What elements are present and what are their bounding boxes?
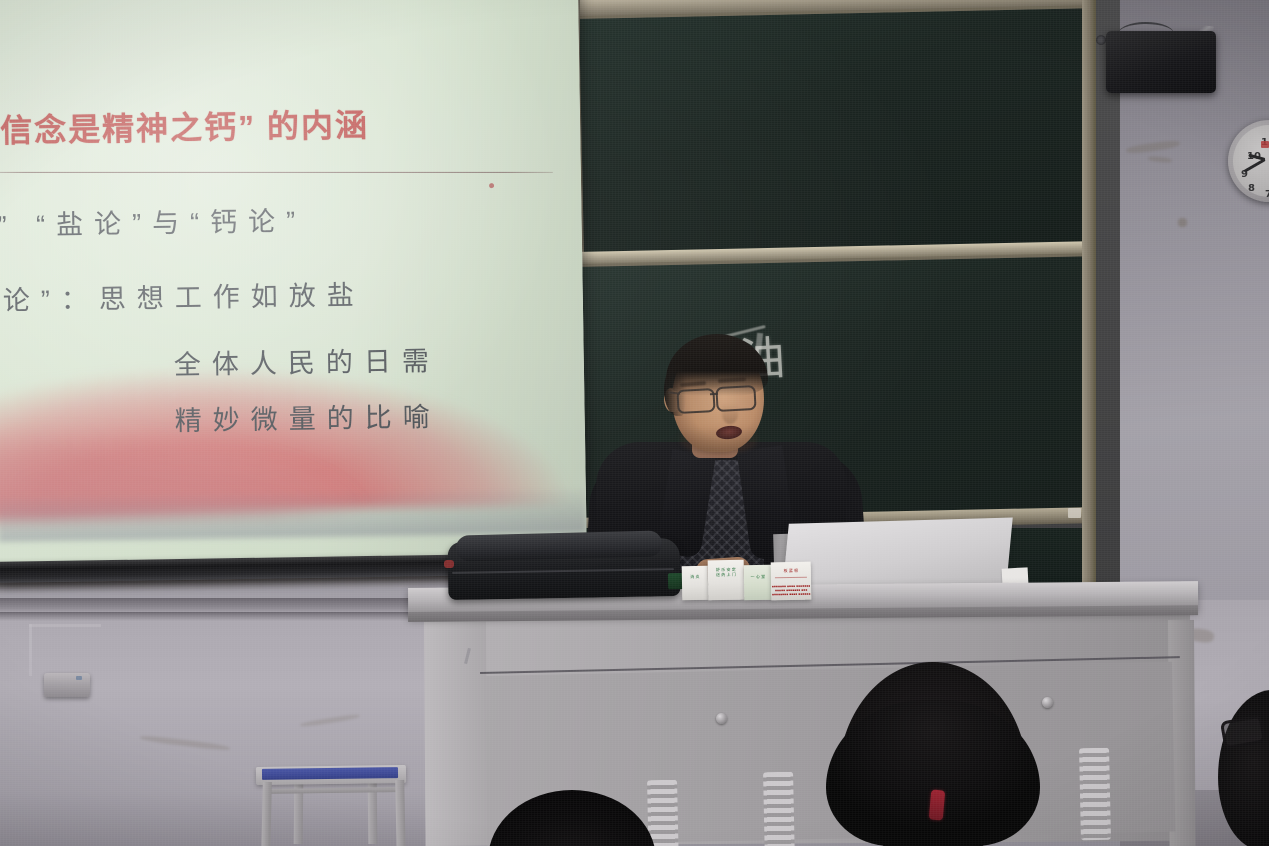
medicine-box-label: 一 心 堂 — [744, 574, 772, 579]
medicine-box-label: 板 蓝 根 — [771, 568, 811, 574]
clock-numeral-7: 7 — [1265, 189, 1269, 200]
stool-seat — [262, 767, 398, 780]
lecturer-jaw-shadow — [680, 426, 758, 454]
slide-body-line-2: 盐论”：思想工作如放盐 — [0, 273, 365, 318]
electrical-conduit — [29, 624, 101, 627]
podium-lock-icon[interactable] — [1042, 697, 1053, 708]
medicine-box-label: 舒 乐 安 定 送 药 上 门 — [708, 567, 744, 578]
lecturer-nose — [722, 404, 738, 424]
chalk-tray-clip — [1068, 508, 1081, 518]
podium-left-panel — [424, 622, 488, 846]
medicine-box-label: 消 炎 — [682, 574, 708, 579]
medicine-box-fineprint: ▪▪▪▪▪▪▪ ▪▪▪▪ ▪▪▪▪▪▪▪ ▪▪▪▪▪ ▪▪▪▪▪▪▪ ▪▪▪ ▪… — [771, 580, 811, 597]
podium-vent-slats — [763, 772, 795, 846]
medicine-box: 舒 乐 安 定 送 药 上 门 — [708, 560, 745, 601]
stool-leg — [261, 782, 272, 846]
slide-title-underline — [0, 172, 553, 173]
eyeglasses-icon — [676, 388, 715, 414]
projected-slide: 思想信念是精神之钙” 的内涵 论” “盐论”与“钙论” 盐论”：思想工作如放盐 … — [0, 0, 587, 580]
medicine-box: 板 蓝 根 ▪▪▪▪▪▪▪ ▪▪▪▪ ▪▪▪▪▪▪▪ ▪▪▪▪▪ ▪▪▪▪▪▪▪… — [771, 562, 812, 601]
blackboard-right-post — [1082, 0, 1096, 600]
left-wall-lower — [0, 600, 430, 846]
medicine-box: 消 炎 — [682, 566, 709, 600]
speaker-bracket — [1096, 35, 1106, 45]
wall-speaker-icon — [1106, 31, 1216, 93]
bag-zipper-pull-icon — [444, 560, 454, 568]
slide-body-line-4: 精妙微量的比喻 — [174, 395, 441, 438]
slide-body-line-1: 论” “盐论”与“钙论” — [0, 199, 306, 243]
slide-body-line-3: 全体人民的日需 — [174, 339, 441, 382]
podium-vent-slats — [647, 780, 679, 846]
podium-lock-icon[interactable] — [716, 713, 727, 724]
wall-electrical-box — [44, 673, 90, 697]
medicine-box: 一 心 堂 — [744, 565, 773, 600]
clock-brand-mark — [1261, 141, 1269, 148]
blackboard-panel-upper — [576, 5, 1093, 266]
beam-shadow — [0, 612, 432, 621]
eyeglasses-bridge — [710, 393, 718, 395]
podium-vent-slats — [1079, 748, 1111, 841]
slide-title: 思想信念是精神之钙” 的内涵 — [0, 98, 472, 152]
medicine-box-rule — [775, 577, 807, 579]
electrical-box-indicator — [76, 676, 82, 680]
classroom-photo: 油 12 11 10 9 8 7 6 思想信念是精神之钙” 的内涵 论” “盐论… — [0, 0, 1269, 846]
wall-smudge — [1178, 218, 1187, 227]
laptop-bag-top — [456, 530, 663, 561]
hair-tie-icon — [929, 789, 946, 820]
electrical-conduit — [29, 624, 32, 676]
slide-underline-endpoint — [489, 183, 494, 188]
clock-numeral-8: 8 — [1248, 183, 1255, 194]
stool-leg — [395, 780, 406, 846]
student-hair — [826, 700, 1040, 846]
projection-screen: 思想信念是精神之钙” 的内涵 论” “盐论”与“钙论” 盐论”：思想工作如放盐 … — [0, 0, 587, 580]
